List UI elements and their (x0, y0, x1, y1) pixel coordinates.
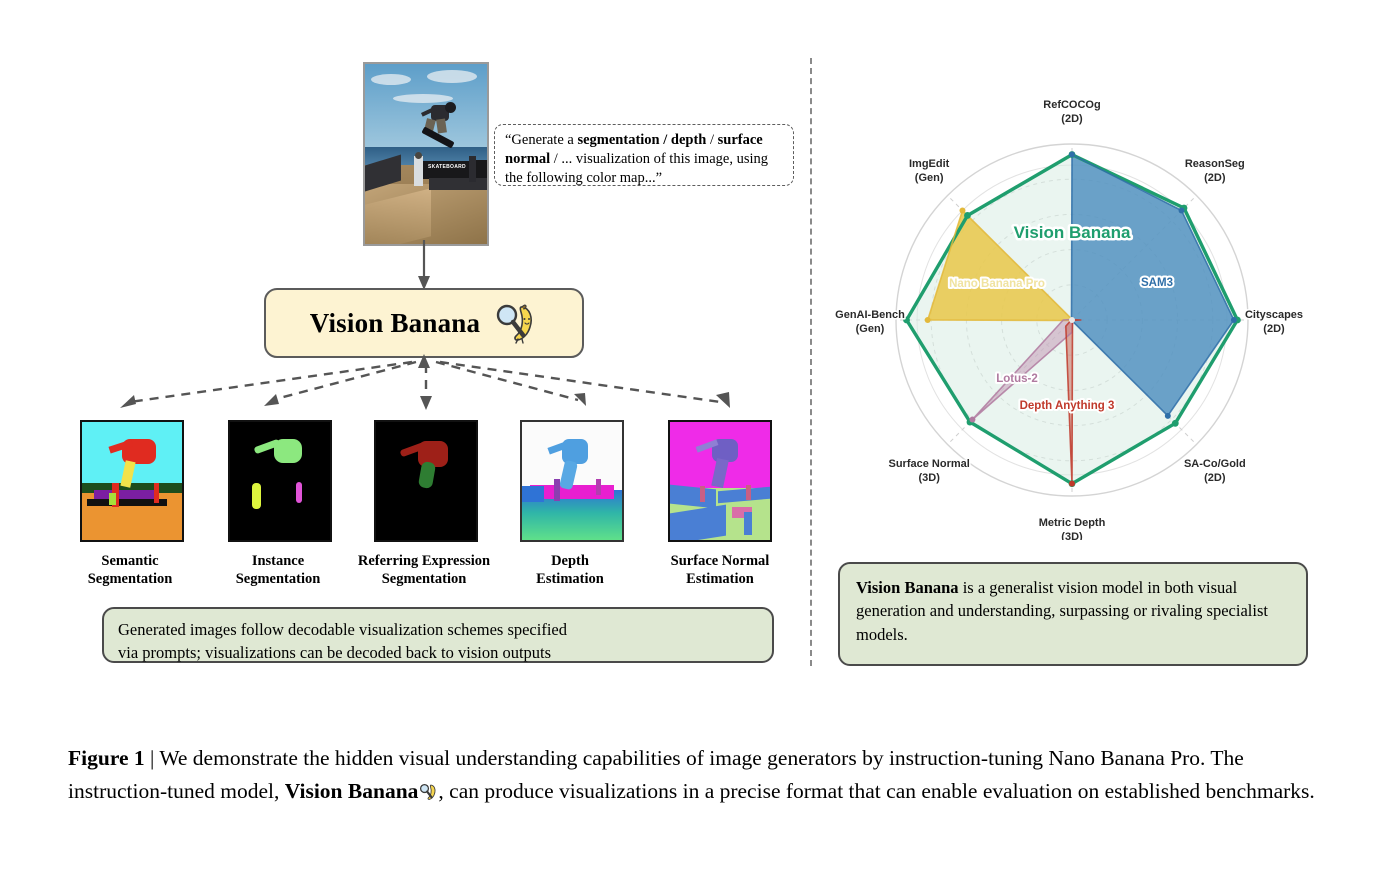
figure-number: Figure 1 (68, 746, 145, 770)
svg-text:(Gen): (Gen) (856, 323, 885, 335)
left-note: Generated images follow decodable visual… (102, 607, 774, 663)
series-label-4: Depth Anything 3Depth Anything 3 (1020, 400, 1115, 412)
thumb-semantic-segmentation (80, 420, 184, 542)
svg-text:GenAI-Bench: GenAI-Bench (835, 309, 905, 321)
fanout-arrows (60, 352, 800, 420)
thumb-referring-expression-segmentation (374, 420, 478, 542)
series-label-1: SAM3SAM3 (1141, 277, 1173, 289)
output-label-1: Instance Segmentation (203, 553, 353, 588)
series-label-2: Nano Banana ProNano Banana Pro (949, 278, 1045, 290)
svg-text:SAM3: SAM3 (1141, 277, 1173, 289)
prompt-bold-1: segmentation / depth (577, 132, 706, 148)
svg-text:RefCOCOg: RefCOCOg (1043, 99, 1100, 111)
svg-text:ReasonSeg: ReasonSeg (1185, 158, 1245, 170)
series-label-0: Vision BananaVision Banana (1014, 223, 1131, 242)
prompt-mid-1: / (706, 132, 717, 148)
svg-text:Surface Normal: Surface Normal (889, 458, 970, 470)
thumb-instance-segmentation (228, 420, 332, 542)
caption-part-2: , can produce visualizations in a precis… (438, 779, 1314, 803)
radar-chart: RefCOCOg(2D)RefCOCOg(2D)ReasonSeg(2D)Rea… (830, 60, 1330, 540)
caption-bold: Vision Banana (285, 779, 419, 803)
radar-axis-label-1: ReasonSeg(2D)ReasonSeg(2D) (1185, 158, 1245, 184)
svg-text:(Gen): (Gen) (915, 172, 944, 184)
radar-axis-label-2: Cityscapes(2D)Cityscapes(2D) (1245, 309, 1303, 335)
svg-text:Cityscapes: Cityscapes (1245, 309, 1303, 321)
caption-inline-icon (418, 782, 438, 802)
radar-axis-label-4: Metric Depth(3D)Metric Depth(3D) (1039, 517, 1106, 540)
model-box: Vision Banana (264, 288, 584, 358)
prompt-bubble: “Generate a segmentation / depth / surfa… (494, 124, 794, 186)
radar-axis-label-6: GenAI-Bench(Gen)GenAI-Bench(Gen) (835, 309, 905, 335)
output-label-3: Depth Estimation (495, 553, 645, 588)
panel-divider (810, 58, 812, 666)
radar-axis-label-7: ImgEdit(Gen)ImgEdit(Gen) (909, 158, 950, 184)
figure-caption: Figure 1 | We demonstrate the hidden vis… (68, 742, 1330, 809)
svg-text:Metric Depth: Metric Depth (1039, 517, 1106, 529)
arrow-photo-to-model (398, 240, 458, 292)
right-note: Vision Banana is a generalist vision mod… (838, 562, 1308, 666)
caption-sep: | (145, 746, 160, 770)
series-label-3: Lotus-2Lotus-2 (996, 373, 1038, 385)
magnifier-banana-icon (492, 301, 538, 345)
svg-text:(2D): (2D) (1263, 323, 1285, 335)
radar-axis-label-0: RefCOCOg(2D)RefCOCOg(2D) (1043, 99, 1100, 125)
svg-text:(2D): (2D) (1061, 113, 1083, 125)
output-label-4: Surface Normal Estimation (645, 553, 795, 588)
radar-axis-label-3: SA-Co/Gold(2D)SA-Co/Gold(2D) (1184, 458, 1246, 484)
output-label-2: Referring Expression Segmentation (349, 553, 499, 588)
svg-text:Lotus-2: Lotus-2 (996, 373, 1038, 385)
thumb-depth-estimation (520, 420, 624, 542)
model-name: Vision Banana (310, 308, 480, 339)
right-note-bold: Vision Banana (856, 578, 959, 597)
svg-text:Vision Banana: Vision Banana (1014, 223, 1131, 242)
svg-text:(3D): (3D) (918, 472, 940, 484)
svg-text:(2D): (2D) (1204, 172, 1226, 184)
svg-text:Nano Banana Pro: Nano Banana Pro (949, 278, 1045, 290)
svg-text:(3D): (3D) (1061, 531, 1083, 540)
input-photo: SKATEBOARD (363, 62, 489, 246)
radar-axis-label-5: Surface Normal(3D)Surface Normal(3D) (889, 458, 970, 484)
svg-text:Depth Anything 3: Depth Anything 3 (1020, 400, 1115, 412)
svg-text:(2D): (2D) (1204, 472, 1226, 484)
svg-text:ImgEdit: ImgEdit (909, 158, 950, 170)
thumb-surface-normal-estimation (668, 420, 772, 542)
svg-text:SA-Co/Gold: SA-Co/Gold (1184, 458, 1246, 470)
output-label-0: Semantic Segmentation (55, 553, 205, 588)
prompt-pre: “Generate a (505, 132, 577, 148)
